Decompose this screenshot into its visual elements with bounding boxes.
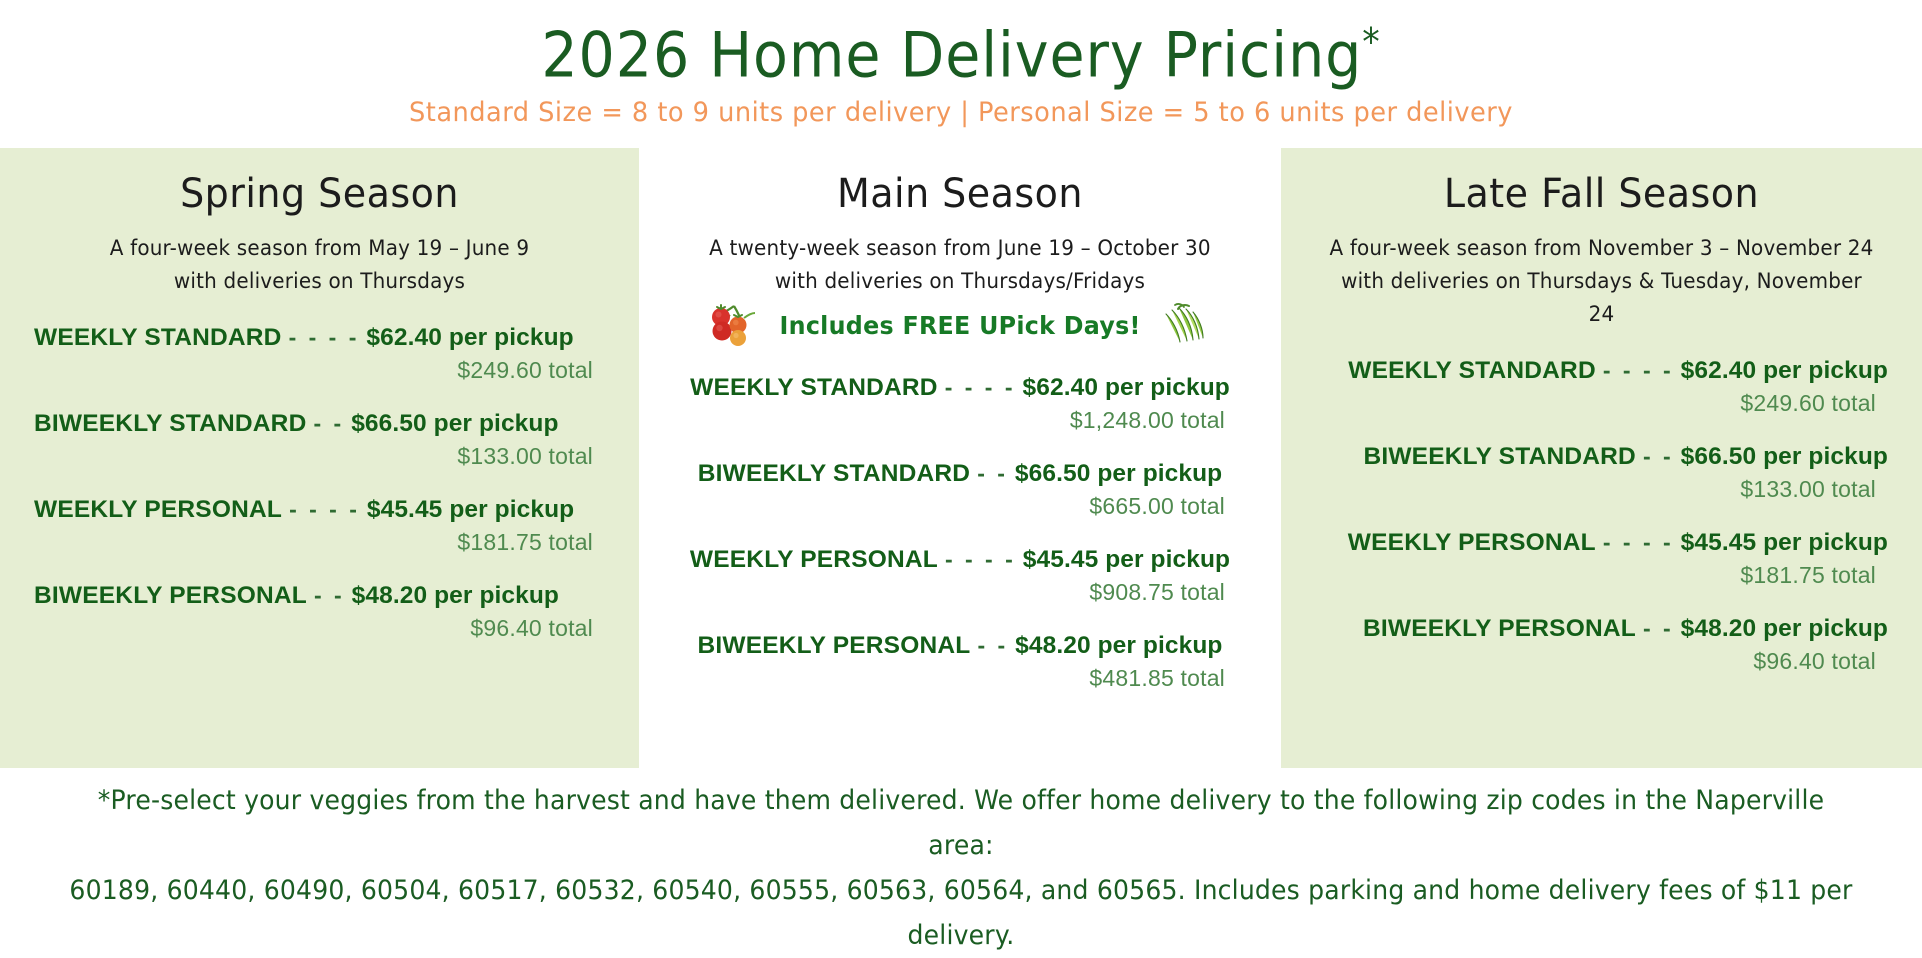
price-main-line: WEEKLY STANDARD - - - - $62.40 per picku… — [34, 324, 605, 352]
price-total: $181.75 total — [34, 529, 605, 556]
price-amount: $62.40 per pickup — [1023, 374, 1230, 402]
season-desc-line1: A four-week season from November 3 – Nov… — [1329, 232, 1873, 265]
page-title-asterisk: * — [1362, 20, 1380, 64]
price-amount: $45.45 per pickup — [1023, 546, 1230, 574]
footnote: *Pre-select your veggies from the harves… — [67, 778, 1854, 958]
price-label: WEEKLY PERSONAL — [1348, 529, 1596, 557]
price-dashes: - - — [306, 410, 351, 437]
price-main-line: BIWEEKLY STANDARD - - $66.50 per pickup — [34, 410, 605, 438]
price-total: $481.85 total — [673, 665, 1247, 692]
price-total: $181.75 total — [1315, 562, 1888, 589]
price-main-line: BIWEEKLY PERSONAL - - $48.20 per pickup — [34, 582, 605, 610]
price-row: BIWEEKLY PERSONAL - - $48.20 per pickup … — [34, 582, 605, 642]
price-total: $96.40 total — [1315, 648, 1888, 675]
price-total: $665.00 total — [673, 493, 1247, 520]
price-row: BIWEEKLY PERSONAL - - $48.20 per pickup … — [673, 632, 1247, 692]
price-amount: $48.20 per pickup — [1015, 632, 1222, 660]
price-label: WEEKLY PERSONAL — [690, 546, 938, 574]
price-label: WEEKLY PERSONAL — [34, 496, 282, 524]
tomato-cluster-icon — [708, 303, 762, 347]
price-list: WEEKLY STANDARD - - - - $62.40 per picku… — [673, 374, 1247, 692]
price-label: BIWEEKLY STANDARD — [698, 460, 970, 488]
season-description: A four-week season from May 19 – June 9 … — [48, 232, 590, 298]
season-description: A four-week season from November 3 – Nov… — [1329, 232, 1873, 331]
price-row: BIWEEKLY STANDARD - - $66.50 per pickup … — [1315, 443, 1888, 503]
price-main-line: WEEKLY STANDARD - - - - $62.40 per picku… — [1315, 357, 1888, 385]
season-column-main: Main Season A twenty-week season from Ju… — [639, 148, 1281, 768]
price-dashes: - - - - — [1596, 529, 1681, 556]
price-label: BIWEEKLY STANDARD — [1363, 443, 1635, 471]
page-header: 2026 Home Delivery Pricing* Standard Siz… — [0, 0, 1922, 130]
price-dashes: - - - - — [938, 546, 1023, 573]
page-title-text: 2026 Home Delivery Pricing — [541, 19, 1362, 92]
price-row: WEEKLY STANDARD - - - - $62.40 per picku… — [1315, 357, 1888, 417]
footnote-line2: 60189, 60440, 60490, 60504, 60517, 60532… — [67, 868, 1854, 958]
season-desc-line2: with deliveries on Thursdays/Fridays — [687, 265, 1232, 298]
price-row: WEEKLY PERSONAL - - - - $45.45 per picku… — [34, 496, 605, 556]
price-dashes: - - - - — [1596, 357, 1681, 384]
price-total: $96.40 total — [34, 615, 605, 642]
page-subtitle: Standard Size = 8 to 9 units per deliver… — [48, 96, 1874, 130]
price-main-line: BIWEEKLY PERSONAL - - $48.20 per pickup — [1315, 615, 1888, 643]
price-label: WEEKLY STANDARD — [690, 374, 938, 402]
price-total: $908.75 total — [673, 579, 1247, 606]
price-dashes: - - — [1636, 443, 1681, 470]
price-dashes: - - — [307, 582, 352, 609]
price-label: BIWEEKLY PERSONAL — [34, 582, 307, 610]
price-total: $249.60 total — [34, 357, 605, 384]
price-amount: $66.50 per pickup — [1015, 460, 1222, 488]
price-dashes: - - — [970, 632, 1015, 659]
price-total: $133.00 total — [34, 443, 605, 470]
price-label: BIWEEKLY PERSONAL — [1363, 615, 1636, 643]
season-title: Late Fall Season — [1329, 170, 1873, 218]
season-desc-line2: with deliveries on Thursdays — [48, 265, 590, 298]
price-dashes: - - - - — [938, 374, 1023, 401]
price-main-line: BIWEEKLY STANDARD - - $66.50 per pickup — [1315, 443, 1888, 471]
page-title: 2026 Home Delivery Pricing* — [77, 6, 1845, 92]
price-dashes: - - - - — [282, 324, 367, 351]
price-amount: $62.40 per pickup — [366, 324, 573, 352]
price-amount: $48.20 per pickup — [352, 582, 559, 610]
price-row: BIWEEKLY PERSONAL - - $48.20 per pickup … — [1315, 615, 1888, 675]
price-row: BIWEEKLY STANDARD - - $66.50 per pickup … — [34, 410, 605, 470]
price-list: WEEKLY STANDARD - - - - $62.40 per picku… — [34, 324, 605, 642]
price-row: WEEKLY PERSONAL - - - - $45.45 per picku… — [673, 546, 1247, 606]
price-amount: $45.45 per pickup — [367, 496, 574, 524]
price-label: WEEKLY STANDARD — [34, 324, 282, 352]
price-amount: $45.45 per pickup — [1681, 529, 1888, 557]
price-label: BIWEEKLY STANDARD — [34, 410, 306, 438]
price-main-line: BIWEEKLY PERSONAL - - $48.20 per pickup — [673, 632, 1247, 660]
upick-banner: Includes FREE UPick Days! — [673, 302, 1247, 348]
upick-label: Includes FREE UPick Days! — [779, 311, 1140, 340]
season-column-late-fall: Late Fall Season A four-week season from… — [1281, 148, 1922, 768]
price-row: WEEKLY STANDARD - - - - $62.40 per picku… — [673, 374, 1247, 434]
price-row: BIWEEKLY STANDARD - - $66.50 per pickup … — [673, 460, 1247, 520]
price-label: WEEKLY STANDARD — [1348, 357, 1596, 385]
price-amount: $66.50 per pickup — [351, 410, 558, 438]
season-description: A twenty-week season from June 19 – Octo… — [687, 232, 1232, 298]
price-main-line: WEEKLY PERSONAL - - - - $45.45 per picku… — [673, 546, 1247, 574]
footnote-line1: *Pre-select your veggies from the harves… — [67, 778, 1854, 868]
price-main-line: WEEKLY STANDARD - - - - $62.40 per picku… — [673, 374, 1247, 402]
price-total: $249.60 total — [1315, 390, 1888, 417]
season-title: Spring Season — [48, 170, 590, 218]
price-dashes: - - - - — [282, 496, 367, 523]
price-amount: $66.50 per pickup — [1681, 443, 1888, 471]
price-label: BIWEEKLY PERSONAL — [697, 632, 970, 660]
season-desc-line1: A twenty-week season from June 19 – Octo… — [687, 232, 1232, 265]
season-columns: Spring Season A four-week season from Ma… — [0, 148, 1922, 768]
price-dashes: - - — [970, 460, 1015, 487]
price-main-line: BIWEEKLY STANDARD - - $66.50 per pickup — [673, 460, 1247, 488]
price-row: WEEKLY STANDARD - - - - $62.40 per picku… — [34, 324, 605, 384]
price-amount: $62.40 per pickup — [1681, 357, 1888, 385]
season-column-spring: Spring Season A four-week season from Ma… — [0, 148, 639, 768]
price-main-line: WEEKLY PERSONAL - - - - $45.45 per picku… — [1315, 529, 1888, 557]
price-main-line: WEEKLY PERSONAL - - - - $45.45 per picku… — [34, 496, 605, 524]
season-desc-line1: A four-week season from May 19 – June 9 — [48, 232, 590, 265]
price-dashes: - - — [1636, 615, 1681, 642]
season-title: Main Season — [687, 170, 1232, 218]
price-total: $1,248.00 total — [673, 407, 1247, 434]
price-total: $133.00 total — [1315, 476, 1888, 503]
price-amount: $48.20 per pickup — [1681, 615, 1888, 643]
season-desc-line2: with deliveries on Thursdays & Tuesday, … — [1329, 265, 1873, 331]
green-beans-icon — [1158, 302, 1212, 348]
price-list: WEEKLY STANDARD - - - - $62.40 per picku… — [1315, 357, 1888, 675]
price-row: WEEKLY PERSONAL - - - - $45.45 per picku… — [1315, 529, 1888, 589]
